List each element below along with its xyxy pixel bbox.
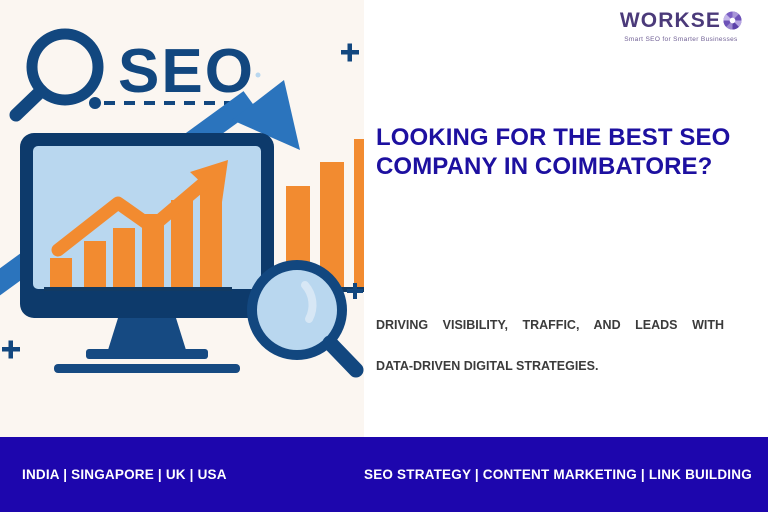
subheadline-line-1: DRIVING VISIBILITY, TRAFFIC, AND LEADS W… [376,315,724,356]
illustration-seo-word: SEO [118,37,255,106]
seo-illustration: SEO [0,0,364,437]
seo-marketing-banner: SEO [0,0,768,512]
brand-logo[interactable]: WORKSE Smart SEO for Smarter Businesses [620,10,742,43]
illustration-panel: SEO [0,0,364,437]
page-title: LOOKING FOR THE BEST SEO COMPANY IN COIM… [376,123,736,181]
logo-tagline: Smart SEO for Smarter Businesses [620,36,742,43]
footer-services: SEO STRATEGY | CONTENT MARKETING | LINK … [364,467,768,482]
content-panel: WORKSE Smart SEO for Smarter Businesses … [364,0,768,437]
subheadline: DRIVING VISIBILITY, TRAFFIC, AND LEADS W… [376,315,724,376]
logo-wordmark: WORKSE [620,10,721,31]
headline-line-2: COMPANY IN COIMBATORE? [376,153,712,180]
headline-line-1: LOOKING FOR THE BEST SEO [376,124,730,151]
footer-locations: INDIA | SINGAPORE | UK | USA [0,467,364,482]
dot-accent-icon [256,73,261,78]
pinwheel-circle-icon [723,11,742,30]
subheadline-line-2: DATA-DRIVEN DIGITAL STRATEGIES. [376,359,598,373]
footer-bar: INDIA | SINGAPORE | UK | USA SEO STRATEG… [0,437,768,512]
